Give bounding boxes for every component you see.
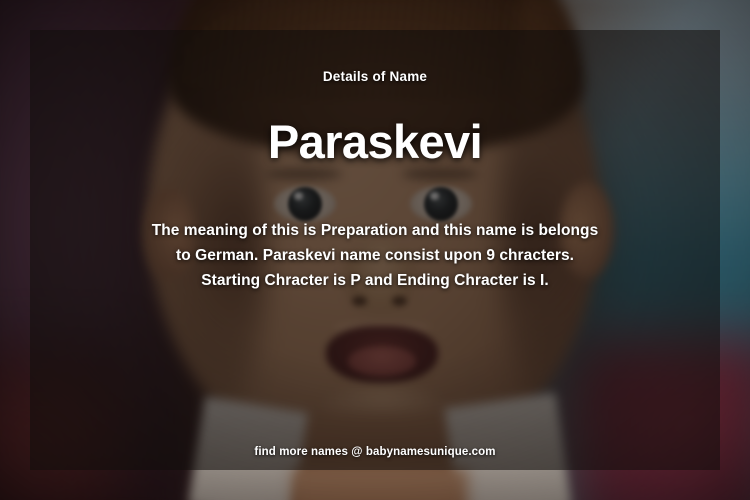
description-line-1: The meaning of this is Preparation and t… [30,218,720,243]
page-title: Paraskevi [30,118,720,165]
name-detail-card: Details of Name Paraskevi The meaning of… [0,0,750,500]
card-content: Details of Name Paraskevi The meaning of… [30,30,720,470]
description-line-2: to German. Paraskevi name consist upon 9… [30,243,720,268]
card-kicker-label: Details of Name [30,69,720,84]
description-line-3: Starting Chracter is P and Ending Chract… [30,268,720,293]
name-description: The meaning of this is Preparation and t… [30,218,720,293]
footer-site-credit: find more names @ babynamesunique.com [30,446,720,458]
